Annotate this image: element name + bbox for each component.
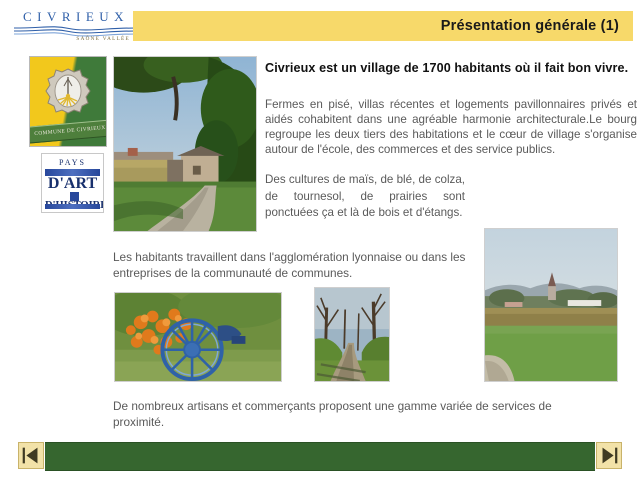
next-slide-button[interactable] bbox=[596, 442, 622, 469]
photo-woodland-path bbox=[314, 287, 390, 382]
main-paragraph: Fermes en pisé, villas récentes et logem… bbox=[265, 97, 637, 157]
photo-village-farmhouse bbox=[113, 56, 257, 232]
crest-emblem-icon bbox=[43, 66, 93, 116]
page-title: Présentation générale (1) bbox=[441, 18, 619, 34]
pays-stripe-bottom bbox=[45, 204, 100, 209]
photo-flowered-cartwheel bbox=[114, 292, 282, 382]
slide-navigation-bar bbox=[18, 442, 622, 469]
crops-paragraph: Des cultures de maïs, de blé, de colza, … bbox=[265, 172, 465, 222]
employment-paragraph: Les habitants travaillent dans l'agglomé… bbox=[113, 249, 513, 282]
slide-header: CIVRIEUX SAÔNE VALLÉE Présentation génér… bbox=[0, 0, 640, 48]
navigation-track[interactable] bbox=[45, 442, 595, 471]
logo-wordmark: CIVRIEUX bbox=[16, 9, 136, 25]
crest-banner-text: COMMUNE DE CIVRIEUX bbox=[29, 120, 107, 143]
pays-label-line1: PAYS bbox=[45, 158, 100, 167]
crest-banner: COMMUNE DE CIVRIEUX bbox=[29, 119, 107, 144]
logo-tagline: SAÔNE VALLÉE bbox=[14, 36, 136, 42]
previous-arrow-icon bbox=[19, 443, 43, 468]
pays-label-line2: D'ART bbox=[45, 176, 100, 192]
commune-crest: COMMUNE DE CIVRIEUX bbox=[29, 56, 107, 147]
pays-dart-et-dhistoire-logo: PAYS D'ART D'HISTOIRE bbox=[41, 153, 104, 213]
lead-paragraph: Civrieux est un village de 1700 habitant… bbox=[265, 60, 637, 76]
civrieux-logo: CIVRIEUX SAÔNE VALLÉE bbox=[14, 9, 138, 43]
previous-slide-button[interactable] bbox=[18, 442, 44, 469]
slide-title-bar: Présentation générale (1) bbox=[133, 11, 633, 41]
crafts-paragraph: De nombreux artisans et commerçants prop… bbox=[113, 398, 583, 431]
next-arrow-icon bbox=[597, 443, 621, 468]
